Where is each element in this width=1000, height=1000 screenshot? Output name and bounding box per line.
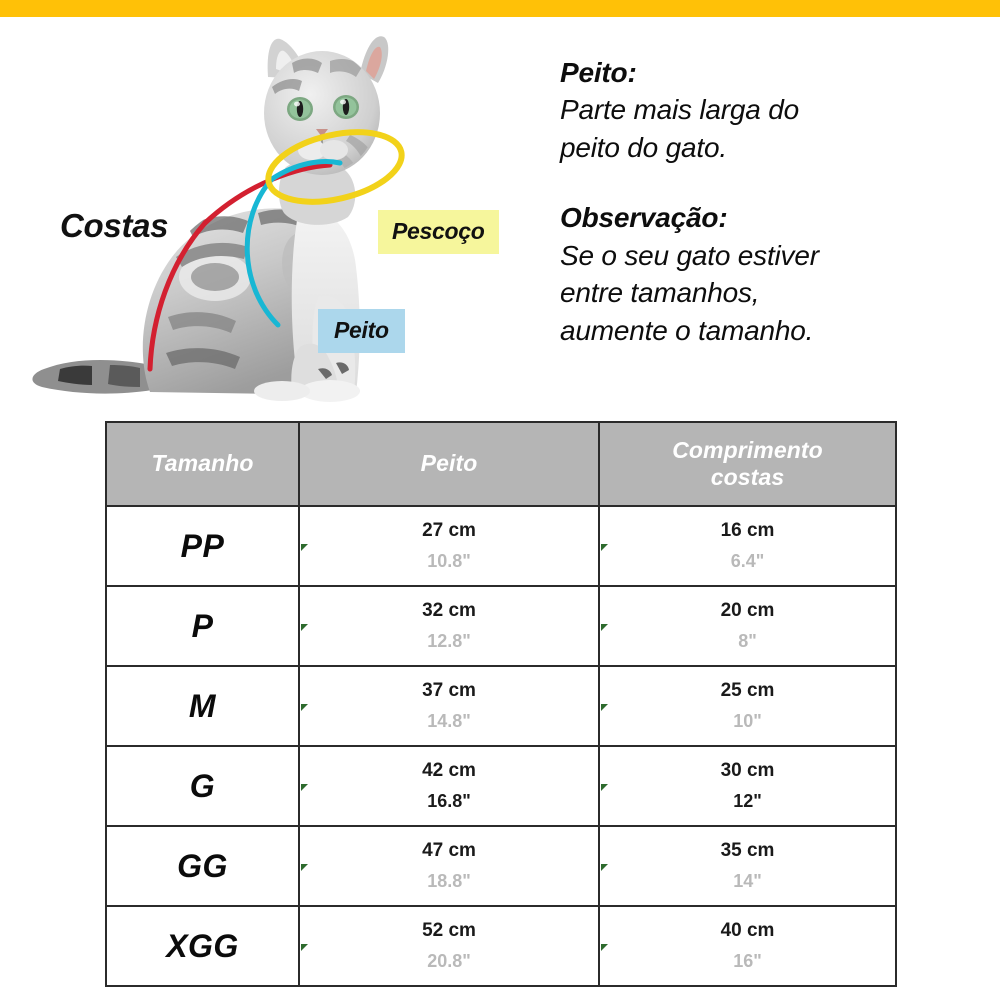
cell-chest: 37 cm14.8" [299, 666, 599, 746]
green-corner-mark-icon [601, 624, 608, 631]
header-back-line2: costas [711, 464, 784, 490]
cell-chest-cm: 52 cm [300, 921, 598, 941]
cell-back: 25 cm10" [599, 666, 896, 746]
cell-chest-cm: 37 cm [300, 681, 598, 701]
cell-chest-cm: 32 cm [300, 601, 598, 621]
cell-back-cm: 20 cm [600, 601, 895, 621]
header-back: Comprimento costas [599, 422, 896, 506]
header-back-line1: Comprimento [672, 437, 823, 463]
notes-text-block: Peito: Parte mais larga do peito do gato… [560, 55, 960, 349]
cell-back-cm: 35 cm [600, 841, 895, 861]
cell-chest: 27 cm10.8" [299, 506, 599, 586]
green-corner-mark-icon [601, 544, 608, 551]
note-observation-line1: Se o seu gato estiver [560, 237, 960, 275]
cell-chest-inches: 20.8" [300, 952, 598, 971]
cat-measurement-illustration: Costas Pescoço Peito [0, 17, 540, 412]
size-chart-body: PP27 cm10.8"16 cm6.4"P32 cm12.8"20 cm8"M… [106, 506, 896, 986]
green-corner-mark-icon [601, 864, 608, 871]
green-corner-mark-icon [601, 784, 608, 791]
green-corner-mark-icon [601, 944, 608, 951]
cell-chest-cm: 42 cm [300, 761, 598, 781]
note-chest-heading: Peito: [560, 55, 960, 91]
cell-back: 40 cm16" [599, 906, 896, 986]
cell-chest-cm: 47 cm [300, 841, 598, 861]
cell-chest: 42 cm16.8" [299, 746, 599, 826]
cell-back: 20 cm8" [599, 586, 896, 666]
cell-chest-inches: 10.8" [300, 552, 598, 571]
table-row: GG47 cm18.8"35 cm14" [106, 826, 896, 906]
cell-size-g: G [106, 746, 299, 826]
cell-back-inches: 6.4" [600, 552, 895, 571]
size-guide-page: Costas Pescoço Peito Peito: Parte mais l… [0, 0, 1000, 1000]
green-corner-mark-icon [601, 704, 608, 711]
green-corner-mark-icon [301, 624, 308, 631]
note-observation-line2: entre tamanhos, [560, 274, 960, 312]
table-row: P32 cm12.8"20 cm8" [106, 586, 896, 666]
cell-size-gg: GG [106, 826, 299, 906]
cell-size-xgg: XGG [106, 906, 299, 986]
cell-back: 30 cm12" [599, 746, 896, 826]
cell-size-p: P [106, 586, 299, 666]
cell-chest-inches: 12.8" [300, 632, 598, 651]
cell-back-inches: 12" [600, 792, 895, 811]
label-peito: Peito [318, 309, 405, 353]
cell-chest-inches: 16.8" [300, 792, 598, 811]
table-row: XGG52 cm20.8"40 cm16" [106, 906, 896, 986]
table-row: M37 cm14.8"25 cm10" [106, 666, 896, 746]
cell-back-inches: 8" [600, 632, 895, 651]
cell-chest: 52 cm20.8" [299, 906, 599, 986]
table-row: PP27 cm10.8"16 cm6.4" [106, 506, 896, 586]
note-observation-heading: Observação: [560, 200, 960, 236]
green-corner-mark-icon [301, 864, 308, 871]
cell-back-cm: 25 cm [600, 681, 895, 701]
label-costas: Costas [60, 207, 168, 245]
green-corner-mark-icon [301, 544, 308, 551]
cell-chest-cm: 27 cm [300, 521, 598, 541]
cell-size-pp: PP [106, 506, 299, 586]
cell-back-cm: 40 cm [600, 921, 895, 941]
note-chest-line2: peito do gato. [560, 129, 960, 167]
label-pescoco: Pescoço [378, 210, 499, 254]
cell-back-inches: 16" [600, 952, 895, 971]
notes-spacer [560, 166, 960, 200]
cell-chest: 32 cm12.8" [299, 586, 599, 666]
cell-back: 16 cm6.4" [599, 506, 896, 586]
green-corner-mark-icon [301, 944, 308, 951]
table-row: G42 cm16.8"30 cm12" [106, 746, 896, 826]
green-corner-mark-icon [301, 784, 308, 791]
cell-back: 35 cm14" [599, 826, 896, 906]
top-accent-bar [0, 0, 1000, 17]
green-corner-mark-icon [301, 704, 308, 711]
cell-back-inches: 14" [600, 872, 895, 891]
size-chart-header: Tamanho Peito Comprimento costas [106, 422, 896, 506]
header-row: Tamanho Peito Comprimento costas [106, 422, 896, 506]
cell-back-cm: 30 cm [600, 761, 895, 781]
note-observation-line3: aumente o tamanho. [560, 312, 960, 350]
cell-chest-inches: 14.8" [300, 712, 598, 731]
cell-chest: 47 cm18.8" [299, 826, 599, 906]
size-chart-table: Tamanho Peito Comprimento costas PP27 cm… [105, 421, 897, 987]
cell-chest-inches: 18.8" [300, 872, 598, 891]
cell-back-inches: 10" [600, 712, 895, 731]
note-chest-line1: Parte mais larga do [560, 91, 960, 129]
cell-back-cm: 16 cm [600, 521, 895, 541]
header-size: Tamanho [106, 422, 299, 506]
cell-size-m: M [106, 666, 299, 746]
header-chest: Peito [299, 422, 599, 506]
